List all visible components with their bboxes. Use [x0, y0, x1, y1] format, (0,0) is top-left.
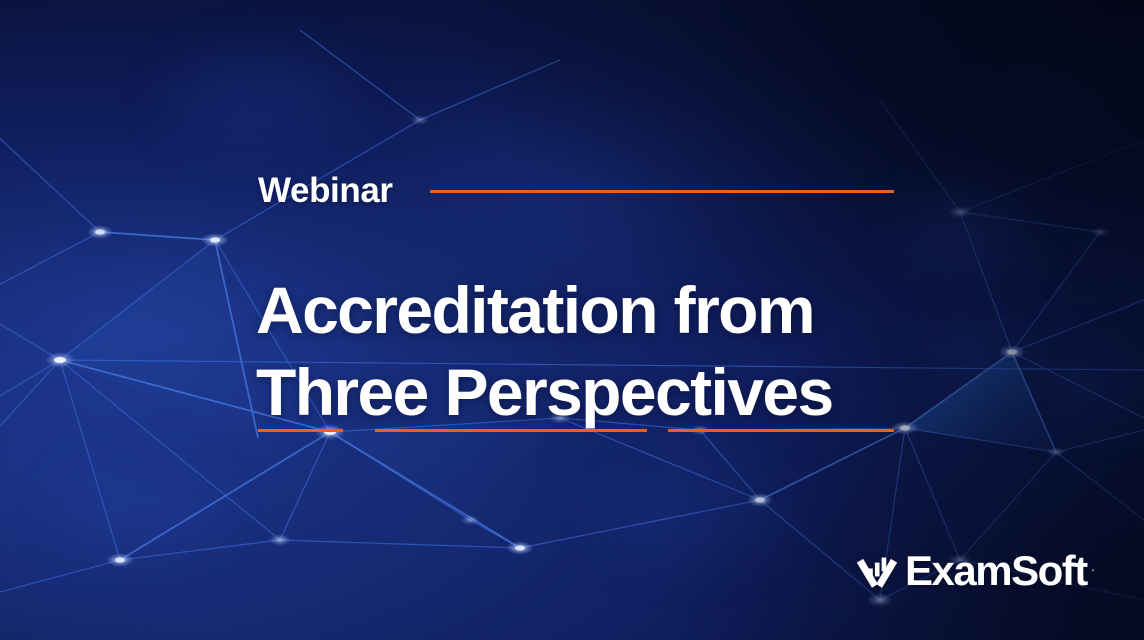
page-title: Accreditation from Three Perspectives [256, 269, 956, 433]
page-title-line-2: Three Perspectives [256, 351, 956, 433]
eyebrow-row: Webinar [258, 168, 894, 212]
rule-segment-2 [375, 429, 647, 432]
examsoft-logo: ExamSoft · [856, 549, 1095, 593]
rule-segment-3 [668, 429, 894, 432]
eyebrow-divider-rule [430, 190, 894, 193]
rule-gap-1 [343, 429, 375, 432]
examsoft-chevron-bars-mark [856, 550, 898, 592]
trademark-symbol: · [1091, 563, 1095, 580]
webinar-title-slide: Webinar Accreditation from Three Perspec… [0, 0, 1144, 640]
rule-gap-2 [647, 429, 668, 432]
page-title-line-1: Accreditation from [256, 269, 956, 351]
bottom-divider-rules [258, 428, 894, 432]
rule-segment-1 [258, 429, 343, 432]
examsoft-wordmark: ExamSoft [905, 550, 1087, 592]
eyebrow-label: Webinar [258, 173, 393, 208]
slide-content: Webinar Accreditation from Three Perspec… [0, 0, 1144, 640]
